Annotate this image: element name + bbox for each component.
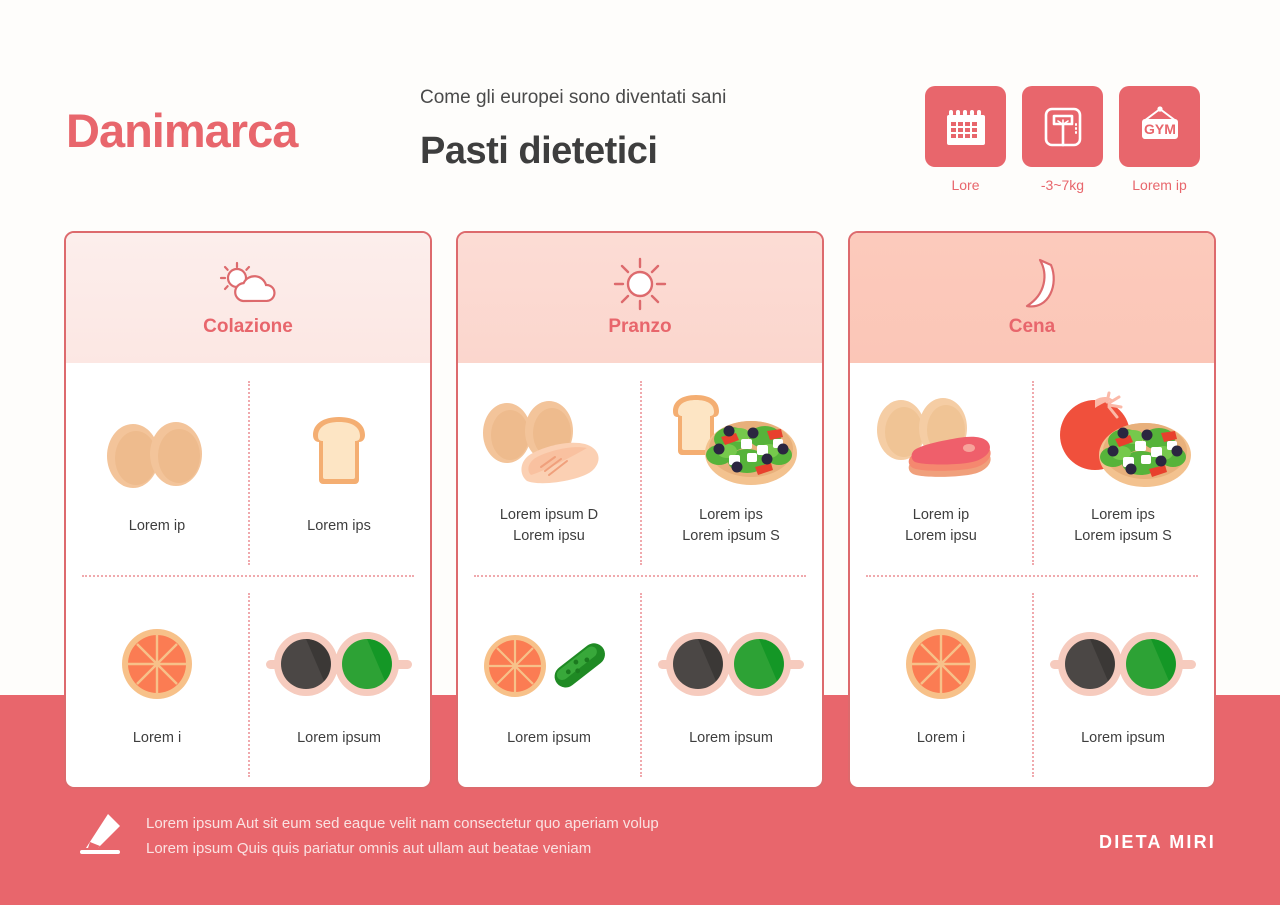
meal-label: Lorem ips — [307, 516, 371, 537]
meal-card-pranzo[interactable]: Pranzo — [456, 231, 824, 789]
card-body: Lorem ip Lorem ips — [66, 363, 430, 787]
meal-label: Lorem i — [917, 728, 965, 749]
card-header: Pranzo — [458, 233, 822, 363]
footer-lines: Lorem ipsum Aut sit eum sed eaque velit … — [146, 812, 659, 857]
pencil-icon — [78, 812, 124, 856]
meal-label: Lorem ip Lorem ipsu — [905, 505, 977, 546]
eggs-and-chicken-art — [464, 387, 634, 495]
card-header: Cena — [850, 233, 1214, 363]
card-body: Lorem ip Lorem ipsu — [850, 363, 1214, 787]
meal-item[interactable]: Lorem ipsum D Lorem ipsu — [458, 363, 640, 575]
bread-slice-art — [254, 398, 424, 506]
infographic-page: Danimarca Come gli europei sono diventat… — [0, 0, 1280, 905]
meal-label: Lorem ipsum D Lorem ipsu — [500, 505, 598, 546]
orange-and-cucumber-art — [464, 610, 634, 718]
meal-item[interactable]: Lorem ips — [248, 363, 430, 575]
bread-and-salad-art — [646, 387, 816, 495]
meal-row: Lorem i — [850, 575, 1214, 787]
meal-label: Lorem i — [133, 728, 181, 749]
footer-notes: Lorem ipsum Aut sit eum sed eaque velit … — [78, 812, 659, 857]
sun-behind-cloud-icon — [213, 258, 283, 310]
meal-label: Lorem ips Lorem ipsum S — [1074, 505, 1172, 546]
meal-item[interactable]: Lorem i — [66, 575, 248, 787]
meal-item[interactable]: Lorem i — [850, 575, 1032, 787]
footer-line: Lorem ipsum Aut sit eum sed eaque velit … — [146, 815, 659, 832]
gym-sign-icon: GYM — [1135, 104, 1185, 150]
country-title: Danimarca — [66, 103, 297, 158]
card-title: Colazione — [203, 316, 293, 338]
brand-logo: DIETA MIRI — [1099, 832, 1216, 853]
coffee-and-tea-cups-art — [1038, 610, 1208, 718]
meal-label: Lorem ipsum — [507, 728, 591, 749]
badge-tile — [925, 86, 1006, 167]
meal-item[interactable]: Lorem ipsum — [248, 575, 430, 787]
meal-item[interactable]: Lorem ipsum — [1032, 575, 1214, 787]
gym-sign-text: GYM — [1144, 121, 1176, 137]
meal-item[interactable]: Lorem ip Lorem ipsu — [850, 363, 1032, 575]
card-header: Colazione — [66, 233, 430, 363]
badge-group: Lore -3~7kg — [925, 86, 1200, 193]
badge-calendar[interactable]: Lore — [925, 86, 1006, 193]
badge-gym[interactable]: GYM Lorem ip — [1119, 86, 1200, 193]
card-body: Lorem ipsum D Lorem ipsu — [458, 363, 822, 787]
meal-item[interactable]: Lorem ip — [66, 363, 248, 575]
sun-icon — [611, 258, 669, 310]
meal-row: Lorem i — [66, 575, 430, 787]
meal-card-cena[interactable]: Cena — [848, 231, 1216, 789]
card-title: Pranzo — [608, 316, 671, 338]
meal-item[interactable]: Lorem ips Lorem ipsum S — [640, 363, 822, 575]
meal-row: Lorem ip Lorem ips — [66, 363, 430, 575]
footer-line: Lorem ipsum Quis quis pariatur omnis aut… — [146, 840, 659, 857]
coffee-and-tea-cups-art — [646, 610, 816, 718]
badge-weight-scale[interactable]: -3~7kg — [1022, 86, 1103, 193]
meal-label: Lorem ips Lorem ipsum S — [682, 505, 780, 546]
badge-label: Lorem ip — [1132, 177, 1186, 193]
tomato-and-salad-art — [1038, 387, 1208, 495]
badge-label: -3~7kg — [1041, 177, 1084, 193]
two-eggs-art — [72, 398, 242, 506]
orange-slice-art — [72, 610, 242, 718]
meal-label: Lorem ipsum — [689, 728, 773, 749]
meal-label: Lorem ipsum — [1081, 728, 1165, 749]
meal-item[interactable]: Lorem ips Lorem ipsum S — [1032, 363, 1214, 575]
eggs-and-steak-art — [856, 387, 1026, 495]
meal-row: Lorem ipsum D Lorem ipsu — [458, 363, 822, 575]
badge-tile: GYM — [1119, 86, 1200, 167]
card-title: Cena — [1009, 316, 1055, 338]
coffee-and-tea-cups-art — [254, 610, 424, 718]
meal-label: Lorem ipsum — [297, 728, 381, 749]
page-title: Pasti dietetici — [420, 130, 657, 173]
meal-card-colazione[interactable]: Colazione Lorem ip — [64, 231, 432, 789]
crescent-moon-icon — [1007, 258, 1057, 310]
badge-tile — [1022, 86, 1103, 167]
header-kicker: Come gli europei sono diventati sani — [420, 87, 726, 109]
orange-slice-art — [856, 610, 1026, 718]
header: Danimarca Come gli europei sono diventat… — [0, 0, 1280, 215]
meal-label: Lorem ip — [129, 516, 185, 537]
weight-scale-icon — [1040, 104, 1086, 150]
meal-row: Lorem ip Lorem ipsu — [850, 363, 1214, 575]
calendar-icon — [943, 104, 989, 150]
meal-item[interactable]: Lorem ipsum — [458, 575, 640, 787]
meal-cards: Colazione Lorem ip — [64, 231, 1216, 789]
meal-item[interactable]: Lorem ipsum — [640, 575, 822, 787]
meal-row: Lorem ipsum — [458, 575, 822, 787]
badge-label: Lore — [951, 177, 979, 193]
